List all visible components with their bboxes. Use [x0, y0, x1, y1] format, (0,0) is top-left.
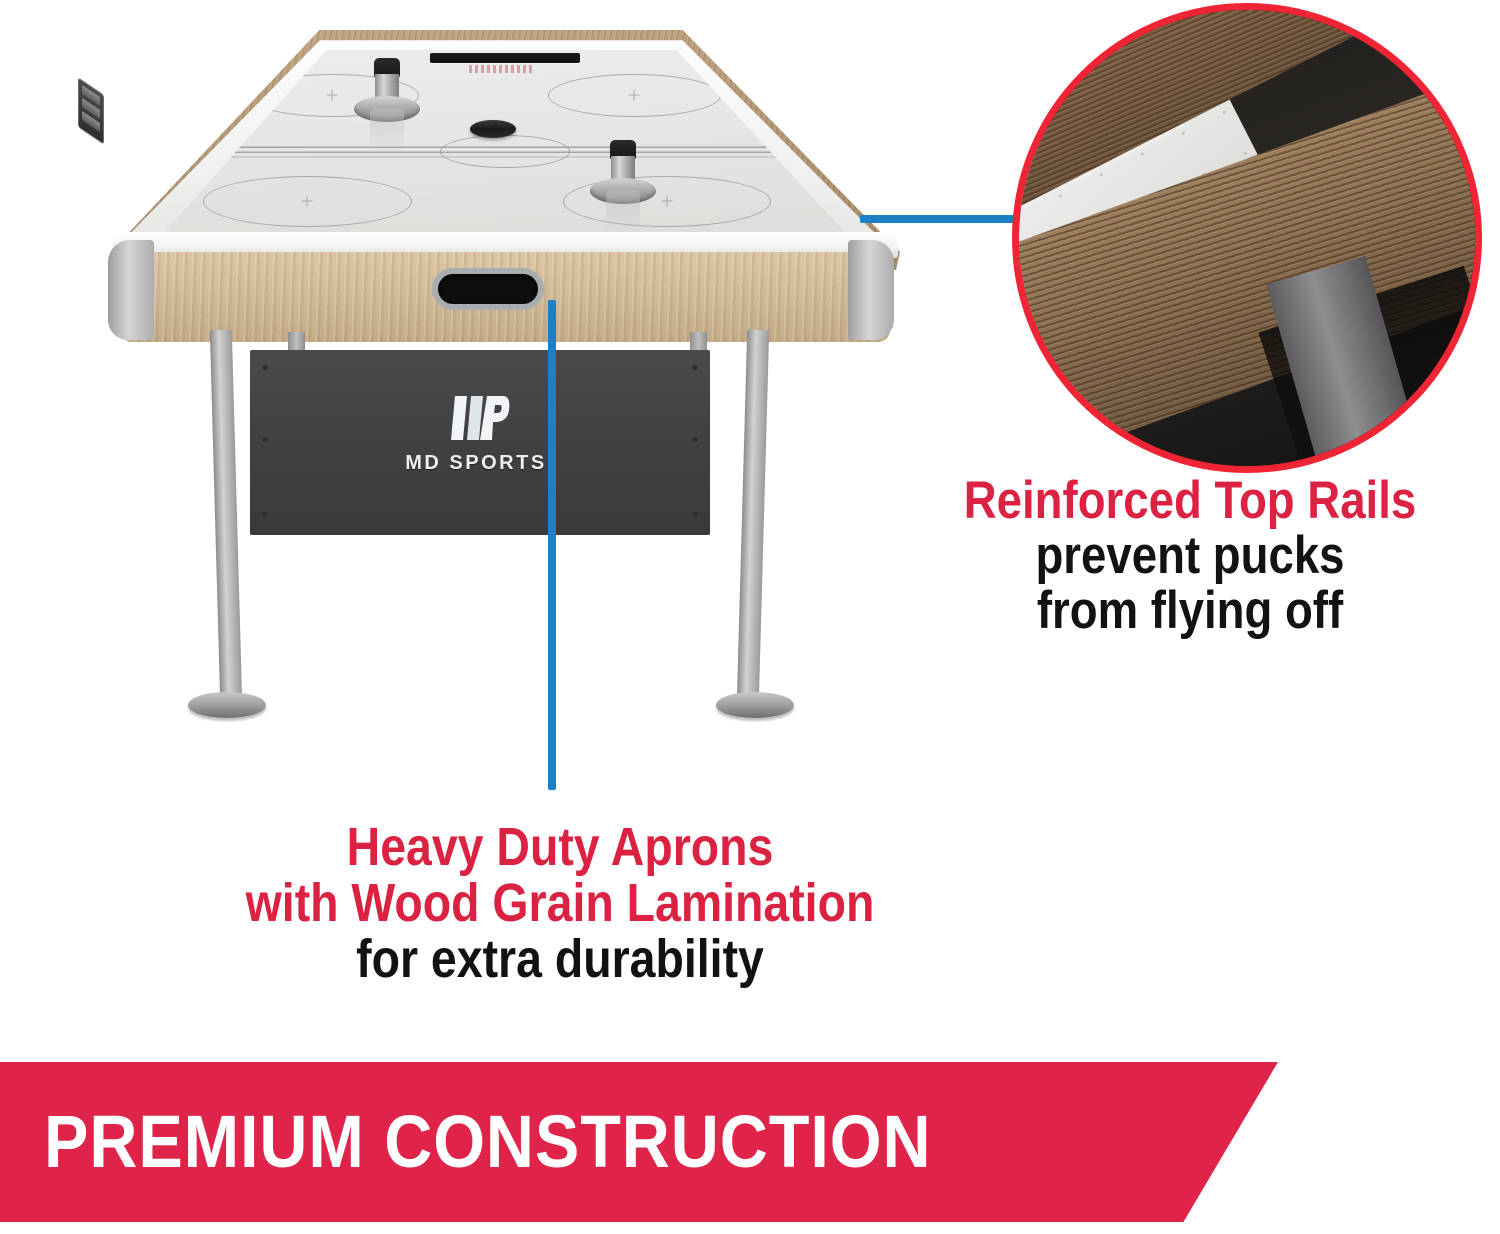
leg-leveler-foot-left	[188, 692, 266, 718]
product-photo: MD SPORTS.	[0, 0, 920, 760]
leader-line-aprons	[548, 300, 556, 790]
screw-icon	[262, 436, 268, 442]
callout-line-2: prevent pucks	[923, 529, 1456, 582]
pusher-paddle-top	[352, 58, 422, 158]
md-sports-monogram-icon	[449, 392, 511, 444]
hockey-puck	[470, 120, 516, 138]
brand-logo: MD SPORTS.	[365, 392, 595, 475]
playfield-surface	[146, 50, 865, 254]
brand-logo-wordmark: MD SPORTS.	[405, 452, 554, 474]
cabinet-corner-left	[108, 240, 154, 340]
pusher-reflection	[606, 190, 640, 234]
callout-text-aprons: Heavy Duty Aprons with Wood Grain Lamina…	[60, 818, 1060, 988]
far-goal-slot	[430, 53, 581, 64]
callout-line-1: Reinforced Top Rails	[923, 474, 1456, 527]
callout-line-2: with Wood Grain Lamination	[130, 876, 990, 930]
screw-icon	[692, 510, 698, 516]
premium-construction-banner: PREMIUM CONSTRUCTION	[0, 1062, 1278, 1222]
screw-icon	[262, 364, 268, 370]
callout-line-1: Heavy Duty Aprons	[130, 820, 990, 874]
electronic-scorer	[78, 77, 104, 145]
pusher-paddle-bottom	[588, 140, 658, 245]
leg-front-left	[210, 330, 242, 702]
banner-label: PREMIUM CONSTRUCTION	[44, 1105, 931, 1179]
center-circle	[440, 135, 569, 168]
goal-opening	[432, 268, 544, 310]
detail-callout-circle-top-rails	[1012, 3, 1482, 473]
faceoff-circle-top-right	[548, 74, 721, 117]
leader-line-top-rails	[860, 215, 1020, 223]
callout-line-3: for extra durability	[130, 932, 990, 986]
heavy-duty-apron-panel: MD SPORTS.	[250, 350, 710, 535]
screw-icon	[692, 436, 698, 442]
playfield-markings	[146, 50, 865, 254]
leg-leveler-foot-right	[716, 692, 794, 718]
screw-icon	[262, 510, 268, 516]
callout-line-3: from flying off	[923, 584, 1456, 637]
playfield-brand-far	[469, 65, 534, 73]
faceoff-circle-bottom-left	[203, 176, 411, 227]
callout-text-top-rails: Reinforced Top Rails prevent pucks from …	[880, 472, 1500, 639]
rail-corner-closeup-image	[1012, 3, 1482, 473]
pusher-reflection	[370, 108, 404, 152]
leg-front-right	[737, 330, 769, 702]
cabinet-corner-right	[848, 240, 894, 340]
screw-icon	[692, 364, 698, 370]
